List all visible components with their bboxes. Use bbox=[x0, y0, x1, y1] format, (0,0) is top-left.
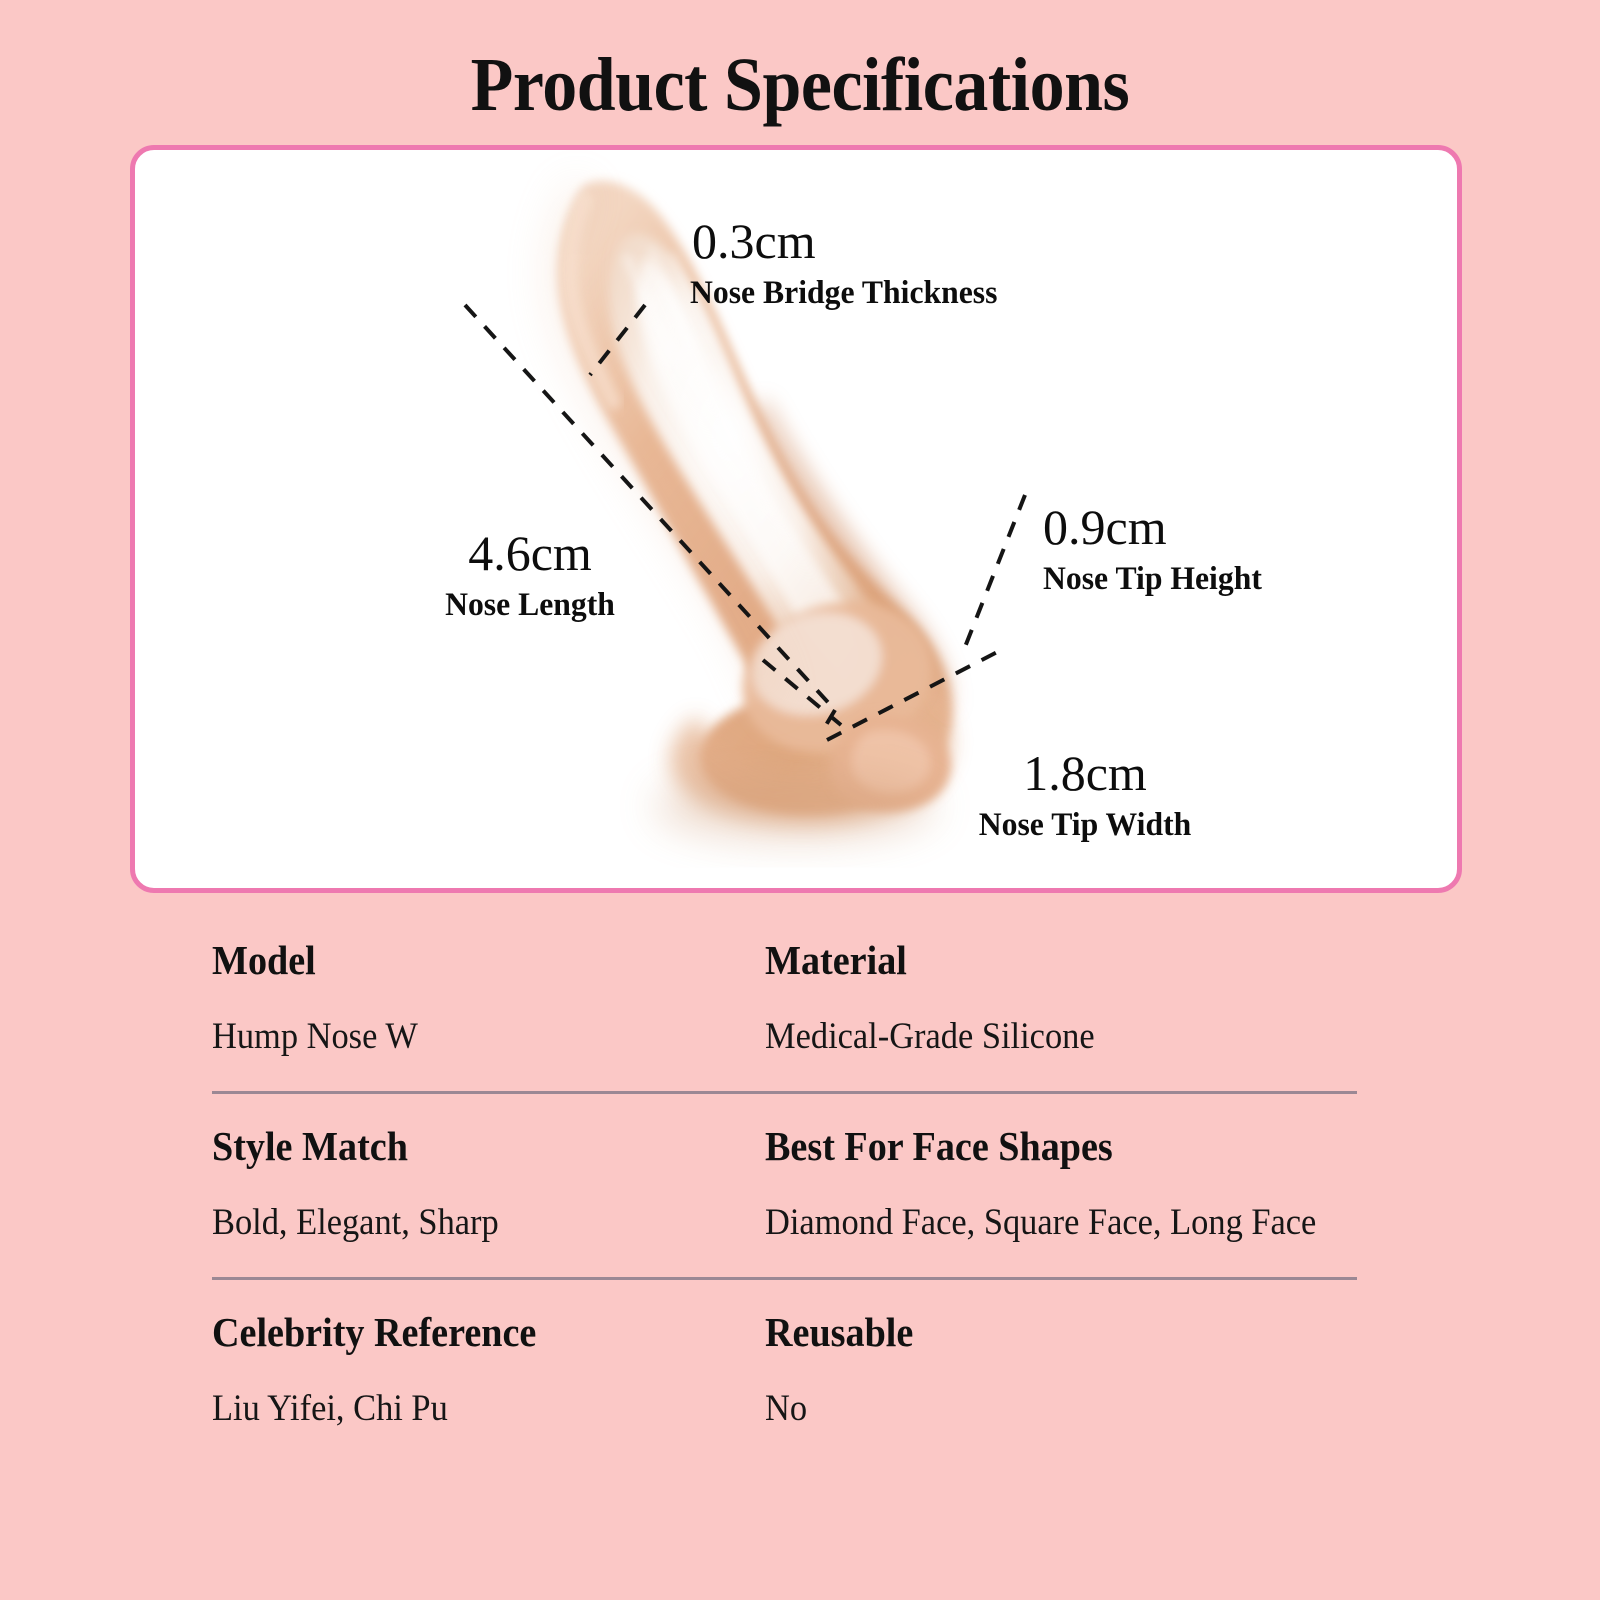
callout-value: 1.8cm bbox=[875, 748, 1295, 798]
diagram-card: 0.3cm Nose Bridge Thickness 4.6cm Nose L… bbox=[130, 145, 1462, 893]
callout-value: 0.3cm bbox=[690, 216, 1010, 266]
callout-nose-tip-width: 1.8cm Nose Tip Width bbox=[875, 748, 1295, 842]
spec-value: Bold, Elegant, Sharp bbox=[212, 1204, 726, 1241]
spec-table: Model Hump Nose W Material Medical-Grade… bbox=[212, 940, 1357, 1427]
spec-value: Medical-Grade Silicone bbox=[765, 1018, 1316, 1055]
spec-label: Reusable bbox=[765, 1312, 1316, 1353]
callout-nose-length: 4.6cm Nose Length bbox=[360, 528, 700, 622]
callout-caption: Nose Tip Width bbox=[883, 809, 1286, 842]
spec-label: Celebrity Reference bbox=[212, 1312, 726, 1353]
spec-label: Style Match bbox=[212, 1126, 726, 1167]
spec-label: Best For Face Shapes bbox=[765, 1126, 1316, 1167]
spec-value: No bbox=[765, 1390, 1316, 1427]
callout-caption: Nose Length bbox=[367, 589, 693, 622]
spec-label: Model bbox=[212, 940, 726, 981]
spec-cell-style-match: Style Match Bold, Elegant, Sharp bbox=[212, 1126, 765, 1241]
spec-cell-celebrity-reference: Celebrity Reference Liu Yifei, Chi Pu bbox=[212, 1312, 765, 1427]
spec-value: Diamond Face, Square Face, Long Face bbox=[765, 1204, 1316, 1241]
spec-row: Model Hump Nose W Material Medical-Grade… bbox=[212, 940, 1357, 1055]
callout-caption: Nose Tip Height bbox=[1043, 563, 1262, 596]
callout-nose-tip-height: 0.9cm Nose Tip Height bbox=[1043, 502, 1271, 596]
callout-caption: Nose Bridge Thickness bbox=[690, 277, 997, 310]
infographic-page: Product Specifications bbox=[0, 0, 1600, 1600]
spec-row: Celebrity Reference Liu Yifei, Chi Pu Re… bbox=[212, 1312, 1357, 1427]
row-divider bbox=[212, 1091, 1357, 1094]
spec-cell-material: Material Medical-Grade Silicone bbox=[765, 940, 1357, 1055]
page-title: Product Specifications bbox=[64, 44, 1536, 126]
row-divider bbox=[212, 1277, 1357, 1280]
callout-nose-bridge-thickness: 0.3cm Nose Bridge Thickness bbox=[690, 216, 1010, 310]
spec-value: Liu Yifei, Chi Pu bbox=[212, 1390, 726, 1427]
spec-cell-reusable: Reusable No bbox=[765, 1312, 1357, 1427]
callout-value: 0.9cm bbox=[1043, 502, 1271, 552]
spec-value: Hump Nose W bbox=[212, 1018, 726, 1055]
spec-cell-model: Model Hump Nose W bbox=[212, 940, 765, 1055]
spec-row: Style Match Bold, Elegant, Sharp Best Fo… bbox=[212, 1126, 1357, 1241]
spec-cell-best-for-face-shapes: Best For Face Shapes Diamond Face, Squar… bbox=[765, 1126, 1357, 1241]
spec-label: Material bbox=[765, 940, 1316, 981]
callout-value: 4.6cm bbox=[360, 528, 700, 578]
